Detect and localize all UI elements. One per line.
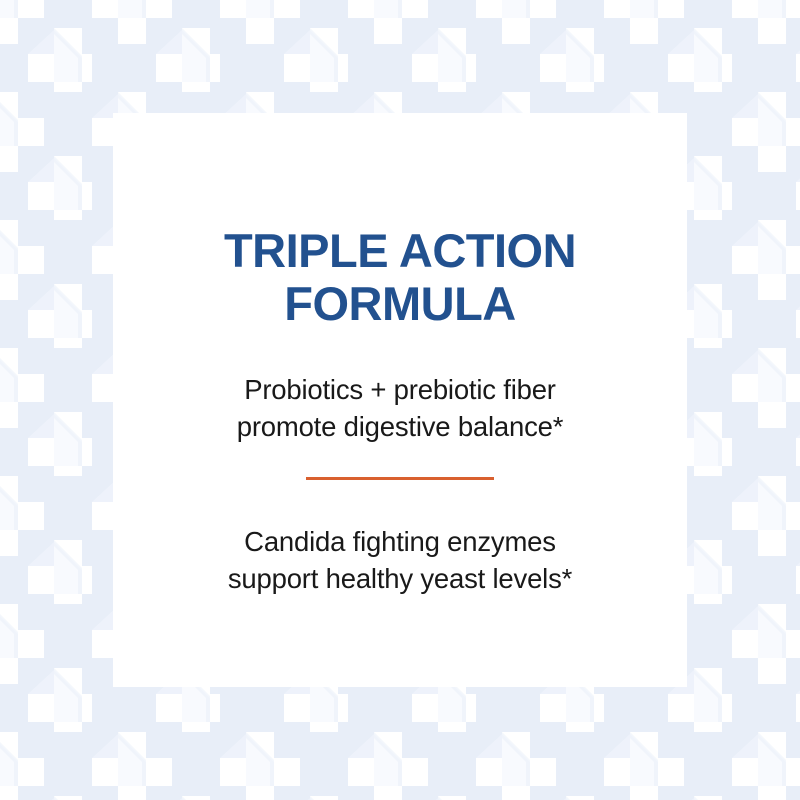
- benefit-2-line-2: support healthy yeast levels*: [113, 561, 687, 598]
- page-title: TRIPLE ACTION FORMULA: [113, 224, 687, 330]
- benefit-1-line-2: promote digestive balance*: [113, 409, 687, 446]
- content-card: TRIPLE ACTION FORMULA Probiotics + prebi…: [113, 113, 687, 687]
- benefit-statement-candida: Candida fighting enzymes support healthy…: [113, 524, 687, 598]
- headline-line-2: FORMULA: [113, 277, 687, 330]
- benefit-statement-probiotics: Probiotics + prebiotic fiber promote dig…: [113, 372, 687, 446]
- benefit-1-line-1: Probiotics + prebiotic fiber: [113, 372, 687, 409]
- benefit-2-line-1: Candida fighting enzymes: [113, 524, 687, 561]
- headline-line-1: TRIPLE ACTION: [113, 224, 687, 277]
- product-infographic: TRIPLE ACTION FORMULA Probiotics + prebi…: [0, 0, 800, 800]
- orange-divider: [306, 477, 494, 480]
- divider-container: [113, 477, 687, 480]
